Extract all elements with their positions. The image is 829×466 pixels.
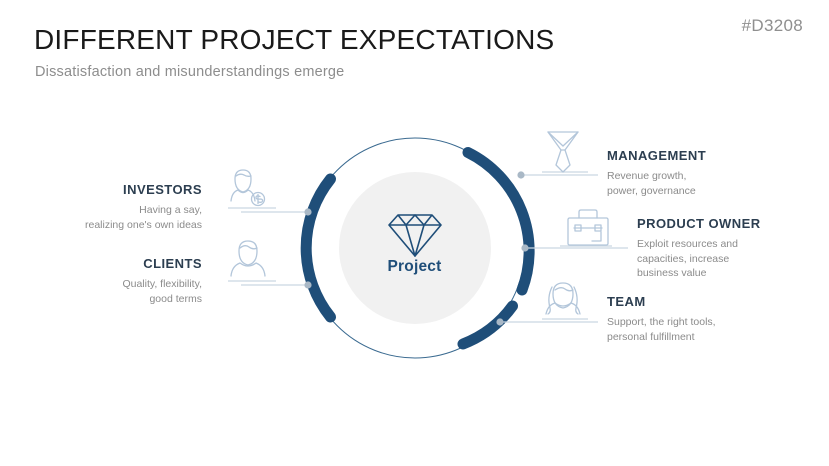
node-clients[interactable]: CLIENTS Quality, flexibility, good terms [0,256,202,306]
node-heading-team: TEAM [607,294,822,310]
arc-segment-right-lower [463,306,513,344]
connector-dot-investors [304,208,311,215]
node-desc-product-owner: Exploit resources and capacities, increa… [637,237,827,282]
connector-dot-team [496,318,503,325]
node-desc-investors: Having a say, realizing one's own ideas [0,203,202,233]
person-icon [231,241,265,276]
person-female-icon [546,283,580,314]
node-investors[interactable]: INVESTORS Having a say, realizing one's … [0,182,202,232]
necktie-icon [548,132,578,172]
person-dollar-icon [231,170,265,206]
node-product-owner[interactable]: PRODUCT OWNER Exploit resources and capa… [637,216,827,281]
inner-circle [339,172,491,324]
node-heading-management: MANAGEMENT [607,148,822,164]
node-heading-clients: CLIENTS [0,256,202,272]
slide: DIFFERENT PROJECT EXPECTATIONS Dissatisf… [0,0,829,466]
node-desc-clients: Quality, flexibility, good terms [0,277,202,307]
node-team[interactable]: TEAM Support, the right tools, personal … [607,294,822,344]
briefcase-icon [568,210,608,245]
node-desc-management: Revenue growth, power, governance [607,169,822,199]
arc-segment-left [306,179,330,317]
node-heading-investors: INVESTORS [0,182,202,198]
node-management[interactable]: MANAGEMENT Revenue growth, power, govern… [607,148,822,198]
node-desc-team: Support, the right tools, personal fulfi… [607,315,822,345]
connector-dot-product-owner [521,244,528,251]
connector-dot-clients [304,281,311,288]
connector-dot-management [517,171,524,178]
node-heading-product-owner: PRODUCT OWNER [637,216,827,232]
